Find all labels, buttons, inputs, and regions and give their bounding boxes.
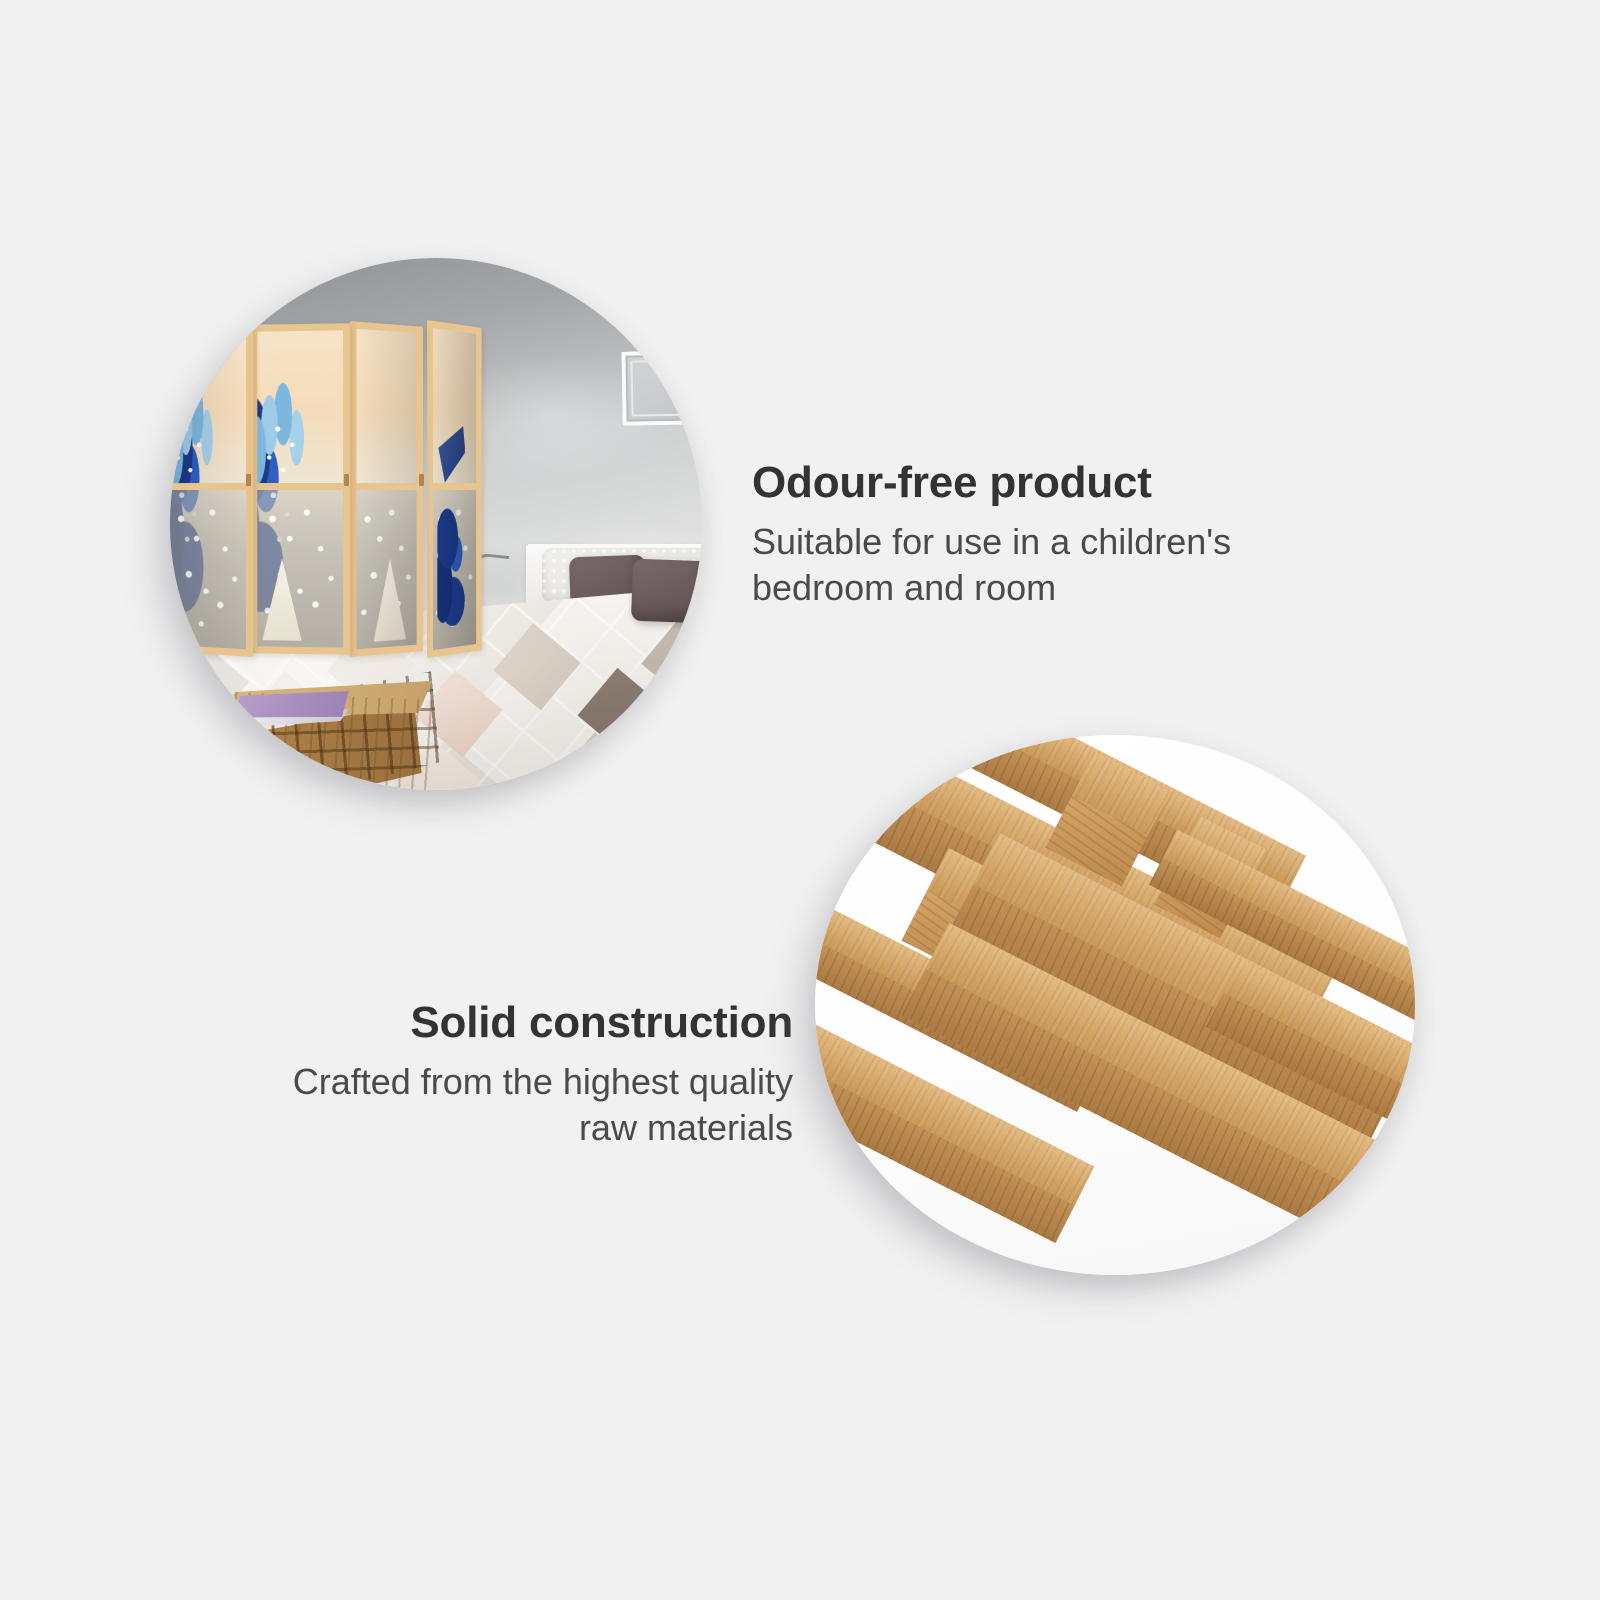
feature-description: Suitable for use in a children's bedroom… [752,519,1272,610]
feature-title: Odour-free product [752,458,1272,507]
divider-panel [350,321,423,657]
wave-artwork [356,329,416,650]
boat-prow [438,425,465,483]
folding-room-divider [170,324,488,654]
divider-panel [427,320,482,658]
feature-text-odour-free: Odour-free product Suitable for use in a… [752,458,1272,611]
divider-hinge [419,474,424,486]
framed-picture [621,350,702,425]
divider-panel [250,323,350,655]
wave-artwork [170,329,246,650]
wave-artwork [257,330,343,647]
divider-panel [170,321,253,657]
divider-hinge [344,474,349,486]
brown-cushion [631,559,702,624]
divider-hinge [246,474,251,486]
mist-band [170,483,246,650]
bedroom-scene [170,258,702,790]
stacked-timber-boards-photo [815,735,1415,1275]
wave-artwork [433,328,476,650]
feature-text-solid-construction: Solid construction Crafted from the high… [263,998,793,1151]
wave-body [437,508,471,637]
infographic-canvas: Odour-free product Suitable for use in a… [0,0,1600,1600]
bedroom-with-folding-screen-photo [170,258,702,790]
slatted-wooden-chest [222,671,443,790]
feature-description: Crafted from the highest quality raw mat… [263,1059,793,1150]
timber-scene [815,735,1415,1275]
feature-title: Solid construction [263,998,793,1047]
